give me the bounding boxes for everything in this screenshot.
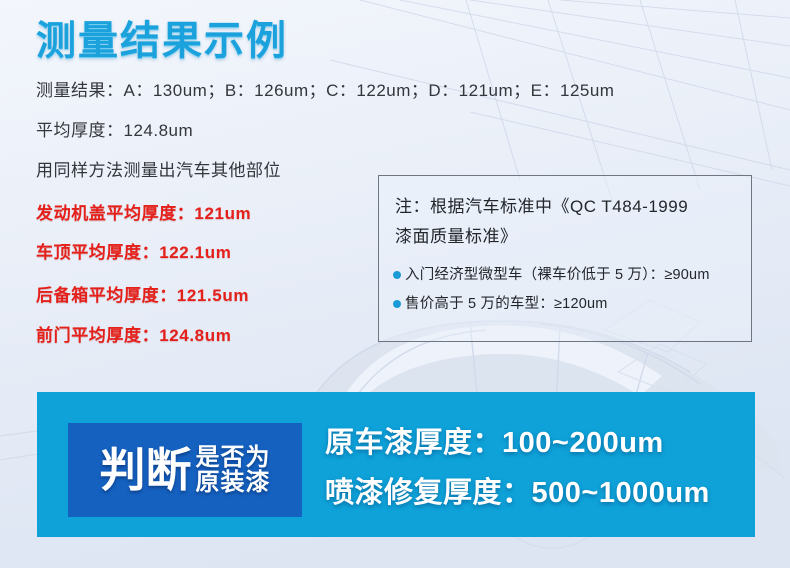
- conclusion-banner: 判断 是否为 原装漆 原车漆厚度：100~200um 喷漆修复厚度：500~10…: [37, 392, 755, 537]
- measurement-results-line: 测量结果：A：130um；B：126um；C：122um；D：121um；E：1…: [36, 76, 614, 101]
- page-title: 测量结果示例: [36, 8, 288, 66]
- judge-main-label: 判断: [100, 447, 192, 493]
- part-thickness-trunk: 后备箱平均厚度：121.5um: [36, 281, 249, 306]
- judge-original-paint-box: 判断 是否为 原装漆: [68, 423, 302, 517]
- bullet-dot-icon: [393, 300, 401, 308]
- standard-bullet-entry-level: 入门经济型微型车（裸车价低于 5 万）：≥90um: [405, 265, 710, 285]
- list-item: 售价高于 5 万的车型：≥120um: [393, 294, 745, 314]
- standard-note-box: 注：根据汽车标准中《QC T484-1999 漆面质量标准》 入门经济型微型车（…: [378, 175, 752, 342]
- standard-note-heading-line1: 注：根据汽车标准中《QC T484-1999: [395, 197, 688, 216]
- part-thickness-hood: 发动机盖平均厚度：121um: [36, 199, 251, 224]
- repaint-thickness-line: 喷漆修复厚度：500~1000um: [325, 468, 710, 518]
- judge-sub-labels: 是否为 原装漆: [196, 445, 271, 495]
- list-item: 入门经济型微型车（裸车价低于 5 万）：≥90um: [393, 265, 745, 285]
- original-paint-thickness-line: 原车漆厚度：100~200um: [325, 418, 710, 468]
- standard-note-bullets: 入门经济型微型车（裸车价低于 5 万）：≥90um 售价高于 5 万的车型：≥1…: [393, 265, 745, 323]
- standard-bullet-above-50k: 售价高于 5 万的车型：≥120um: [405, 294, 608, 314]
- average-thickness-line: 平均厚度：124.8um: [36, 116, 193, 141]
- part-thickness-roof: 车顶平均厚度：122.1um: [36, 238, 231, 263]
- infographic-page: 测量结果示例 测量结果：A：130um；B：126um；C：122um；D：12…: [0, 0, 790, 568]
- method-note-line: 用同样方法测量出汽车其他部位: [36, 156, 281, 181]
- judge-sub-label-line1: 是否为: [196, 445, 271, 470]
- standard-note-heading: 注：根据汽车标准中《QC T484-1999 漆面质量标准》: [395, 192, 741, 252]
- bullet-dot-icon: [393, 271, 401, 279]
- banner-thickness-lines: 原车漆厚度：100~200um 喷漆修复厚度：500~1000um: [325, 418, 710, 518]
- judge-sub-label-line2: 原装漆: [196, 470, 271, 495]
- part-thickness-front-door: 前门平均厚度：124.8um: [36, 321, 231, 346]
- standard-note-heading-line2: 漆面质量标准》: [395, 227, 518, 246]
